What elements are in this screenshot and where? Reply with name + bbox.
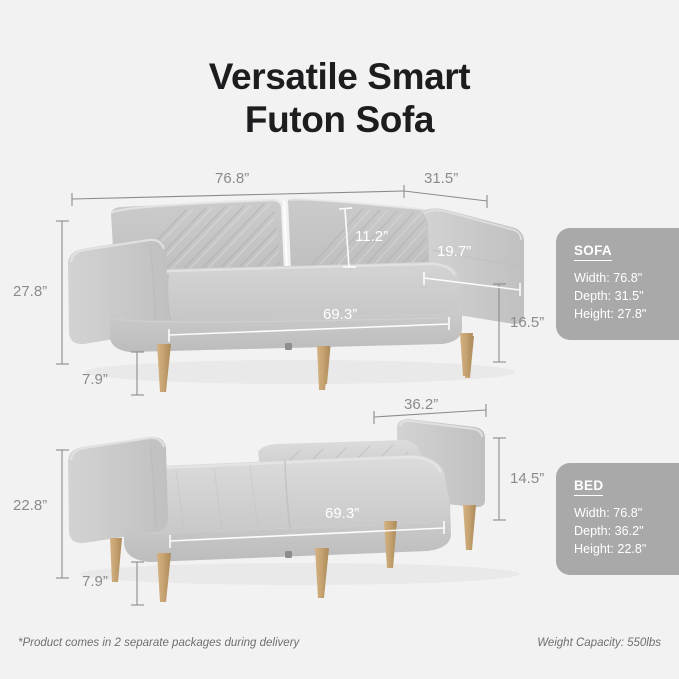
sofa-spec-card: SOFA Width: 76.8" Depth: 31.5" Height: 2… [556, 228, 679, 340]
sofa-illustration [68, 185, 524, 392]
sofa-card-depth: Depth: 31.5" [574, 288, 663, 306]
bed-spec-card: BED Width: 76.8" Depth: 36.2" Height: 22… [556, 463, 679, 575]
bed-depth-label: 36.2” [404, 396, 438, 413]
sofa-card-height: Height: 27.8" [574, 306, 663, 324]
bed-sleep-height-label: 14.5” [510, 470, 544, 487]
product-dimension-diagram: Versatile Smart Futon Sofa [0, 0, 679, 679]
sofa-backrest-height-label: 11.2” [355, 228, 388, 245]
bed-leg-height-label: 7.9” [82, 573, 108, 590]
sofa-width-label: 76.8” [215, 170, 249, 187]
delivery-note: *Product comes in 2 separate packages du… [18, 637, 299, 649]
bed-mattress [124, 455, 450, 534]
sofa-depth-label: 31.5” [424, 170, 458, 187]
bed-sleep-width-label: 69.3” [325, 505, 359, 522]
bed-arm-left [68, 437, 168, 543]
bed-card-heading: BED [574, 478, 603, 496]
sofa-seat-height-label: 16.5” [510, 314, 544, 331]
bed-illustration [68, 419, 520, 602]
sofa-seat-width-label: 69.3” [323, 306, 357, 323]
sofa-leg-height-label: 7.9” [82, 371, 108, 388]
bed-card-width: Width: 76.8" [574, 505, 663, 523]
sofa-seat-depth-label: 19.7” [437, 243, 471, 260]
bed-card-depth: Depth: 36.2" [574, 523, 663, 541]
sofa-height-label: 27.8” [13, 283, 47, 300]
sofa-card-heading: SOFA [574, 243, 612, 261]
bed-card-height: Height: 22.8" [574, 541, 663, 559]
weight-capacity: Weight Capacity: 550lbs [537, 637, 661, 649]
bed-height-label: 22.8” [13, 497, 47, 514]
sofa-card-width: Width: 76.8" [574, 270, 663, 288]
